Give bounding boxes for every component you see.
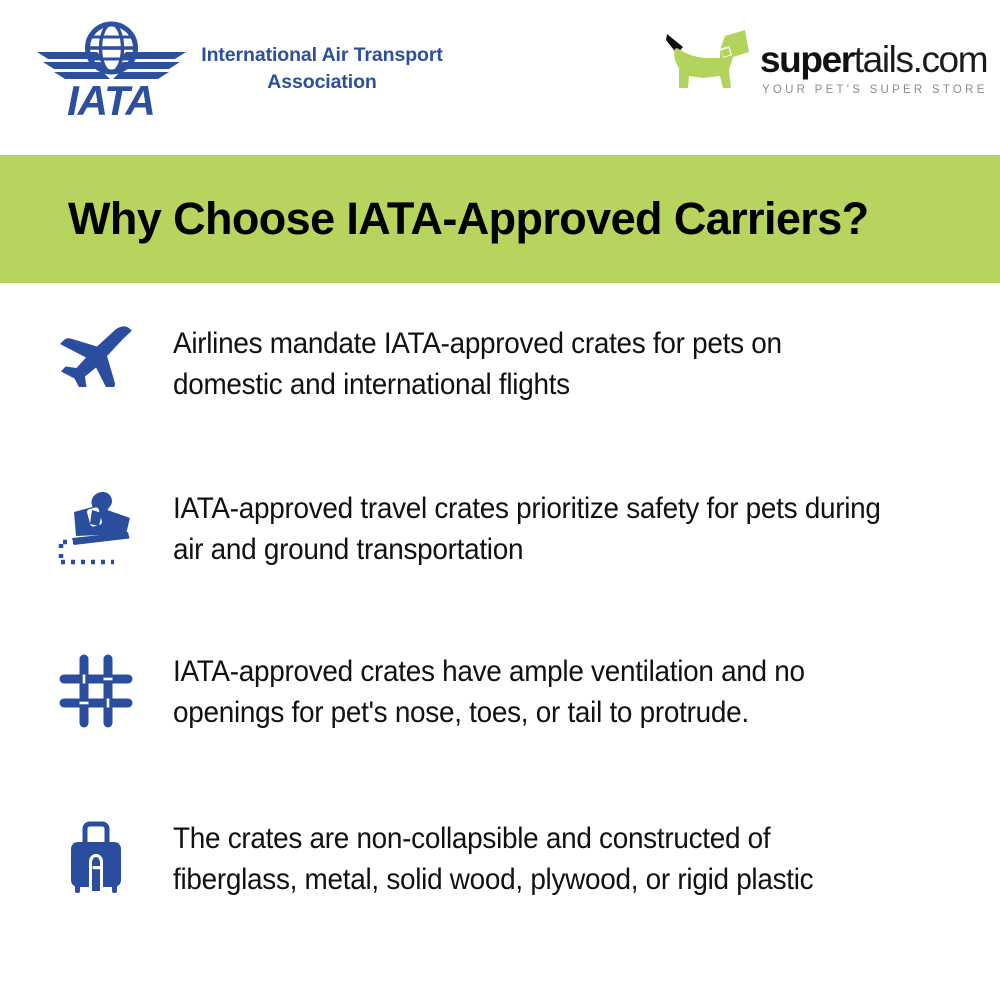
iata-wordmark: International Air Transport Association — [186, 42, 458, 96]
page-header: IATA International Air Transport Associa… — [0, 0, 1000, 155]
page-title: Why Choose IATA-Approved Carriers? — [68, 155, 869, 283]
green-dog-silhouette-icon — [663, 28, 755, 104]
supertails-logo: supertails.com YOUR PET'S SUPER STORE — [660, 26, 990, 116]
list-item: The crates are non-collapsible and const… — [0, 818, 1000, 983]
iata-logo: IATA — [34, 18, 189, 118]
supertails-name-bold: super — [760, 39, 854, 80]
list-item-text: The crates are non-collapsible and const… — [173, 818, 889, 900]
supertails-wordmark: supertails.com YOUR PET'S SUPER STORE — [760, 40, 990, 96]
iata-wordmark-line1: International Air Transport — [186, 42, 458, 69]
list-item: IATA-approved travel crates prioritize s… — [0, 488, 1000, 653]
list-item-text: Airlines mandate IATA-approved crates fo… — [173, 323, 889, 405]
supertails-tagline: YOUR PET'S SUPER STORE — [760, 84, 990, 96]
list-item-text: IATA-approved crates have ample ventilat… — [173, 651, 889, 733]
list-item: Airlines mandate IATA-approved crates fo… — [0, 323, 1000, 488]
title-banner: Why Choose IATA-Approved Carriers? — [0, 155, 1000, 283]
approval-stamp-icon — [56, 488, 136, 568]
airplane-icon — [56, 323, 136, 403]
list-item: IATA-approved crates have ample ventilat… — [0, 651, 1000, 816]
iata-wordmark-line2: Association — [186, 69, 458, 96]
iata-globe-wings-logo — [37, 24, 186, 79]
ventilation-grid-icon — [56, 651, 136, 731]
iata-logo-text: IATA — [67, 77, 155, 118]
pet-carrier-suitcase-icon — [56, 818, 136, 898]
supertails-name-light: tails.com — [854, 39, 987, 80]
list-item-text: IATA-approved travel crates prioritize s… — [173, 488, 889, 570]
supertails-name: supertails.com — [760, 40, 990, 80]
benefits-list: Airlines mandate IATA-approved crates fo… — [0, 283, 1000, 1000]
